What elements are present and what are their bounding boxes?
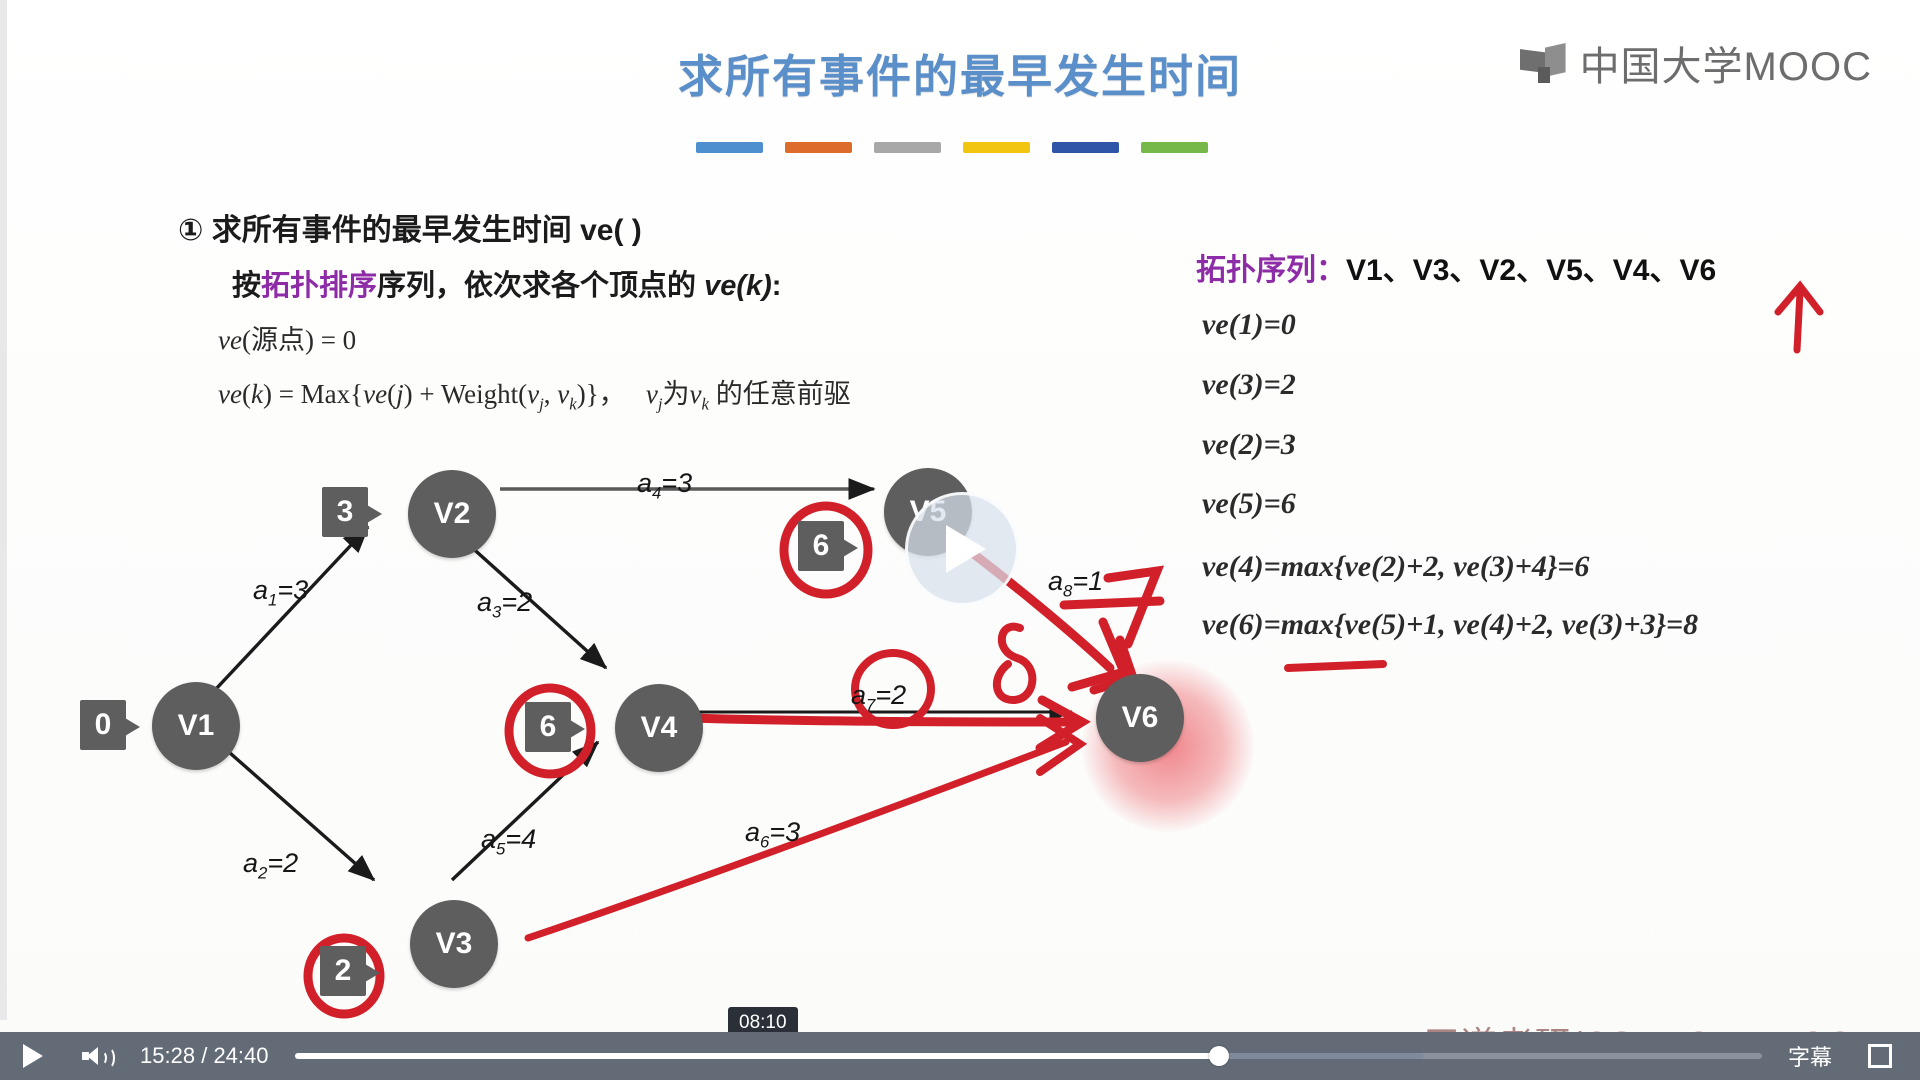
graph-node-v2: V2 [408, 470, 496, 558]
subheading-suffix: 序列，依次求各个顶点的 ve(k): [377, 270, 781, 302]
topo-value: V1、V3、V2、V5、V4、V6 [1346, 254, 1716, 287]
formula-source-node: ve(源点) = 0 [218, 318, 356, 357]
exit-fullscreen-icon[interactable] [1858, 1032, 1902, 1080]
edge-label-a5: a5=4 [481, 824, 536, 859]
edge-label-a1: a1=3 [253, 575, 308, 610]
subtitle-button[interactable]: 字幕 [1788, 1040, 1832, 1072]
current-time: 15:28 [140, 1043, 195, 1068]
edge-label-a7: a7=2 [851, 680, 906, 715]
ve-tag-v3: 2 [320, 946, 366, 996]
edge-label-a4: a4=3 [637, 468, 692, 503]
edge-label-a6: a6=3 [745, 817, 800, 852]
topo-label: 拓扑序列： [1196, 254, 1346, 287]
ve-line-2: ve(2)=3 [1202, 428, 1296, 462]
graph-node-v6: V6 [1096, 674, 1184, 762]
book-icon [1520, 43, 1566, 83]
graph-node-v1: V1 [152, 682, 240, 770]
graph-node-v4: V4 [615, 684, 703, 772]
red-arrow-to-v6-topo [1778, 286, 1820, 350]
edge-label-a3: a3=2 [477, 587, 532, 622]
volume-button[interactable] [62, 1032, 124, 1080]
graph-node-v3: V3 [410, 900, 498, 988]
ve-tag-v4: 6 [525, 702, 571, 752]
time-display: 15:28 / 24:40 [140, 1043, 269, 1069]
progress-played [295, 1053, 1220, 1059]
ve-line-6: ve(6)=max{ve(5)+1, ve(4)+2, ve(3)+3}=8 [1202, 608, 1698, 642]
logo-text: 中国大学MOOC [1580, 34, 1872, 92]
topological-sequence: 拓扑序列：V1、V3、V2、V5、V4、V6 [1196, 245, 1716, 289]
formula-recurrence: ve(k) = Max{ve(j) + Weight(vj, vk)}， vj为… [218, 372, 851, 414]
play-button[interactable] [0, 1032, 62, 1080]
speaker-icon [82, 1047, 104, 1065]
ve-tag-v1: 0 [80, 700, 126, 750]
video-player-stage: 求所有事件的最早发生时间 中国大学MOOC ① 求所有事件的最早发生时间 ve(… [0, 0, 1920, 1080]
red-digit-eight [997, 627, 1032, 700]
color-bar-5 [1052, 142, 1119, 153]
slide-left-accent-bar [0, 0, 7, 1020]
section-subheading: 按拓扑排序序列，依次求各个顶点的 ve(k): [232, 262, 781, 304]
color-bar-1 [696, 142, 763, 153]
red-underline-ve6 [1288, 664, 1383, 668]
player-controls: 15:28 / 24:40 字幕 [0, 1032, 1920, 1080]
mooc-logo: 中国大学MOOC [1520, 34, 1872, 92]
red-stroke-v4-to-v6 [690, 718, 1078, 722]
ve-tag-v5: 6 [798, 521, 844, 571]
subheading-highlight: 拓扑排序 [261, 270, 377, 302]
ve-line-5: ve(5)=6 [1202, 487, 1296, 521]
slide-canvas: 求所有事件的最早发生时间 中国大学MOOC ① 求所有事件的最早发生时间 ve(… [0, 0, 1920, 1080]
edge-label-a8: a8=1 [1048, 566, 1103, 601]
progress-bar[interactable] [295, 1032, 1762, 1080]
subheading-prefix: 按 [232, 270, 261, 302]
red-underline-a8 [1064, 601, 1160, 605]
title-color-bars [696, 142, 1208, 153]
red-digit-seven [1108, 571, 1157, 644]
section-heading: ① 求所有事件的最早发生时间 ve( ) [178, 205, 642, 249]
color-bar-3 [874, 142, 941, 153]
edge-label-a2: a2=2 [243, 848, 298, 883]
color-bar-4 [963, 142, 1030, 153]
ve-line-3: ve(3)=2 [1202, 368, 1296, 402]
color-bar-6 [1141, 142, 1208, 153]
duration: 24:40 [213, 1043, 268, 1068]
ve-line-1: ve(1)=0 [1202, 308, 1296, 342]
red-arrowhead-v3v6 [1040, 718, 1080, 772]
ve-tag-v2: 3 [322, 487, 368, 537]
ve-line-4: ve(4)=max{ve(2)+2, ve(3)+4}=6 [1202, 550, 1589, 584]
play-overlay-button[interactable] [905, 492, 1019, 606]
color-bar-2 [785, 142, 852, 153]
time-separator: / [201, 1043, 207, 1068]
progress-handle[interactable] [1209, 1046, 1229, 1066]
red-arrowhead-v4v6 [1040, 700, 1082, 748]
